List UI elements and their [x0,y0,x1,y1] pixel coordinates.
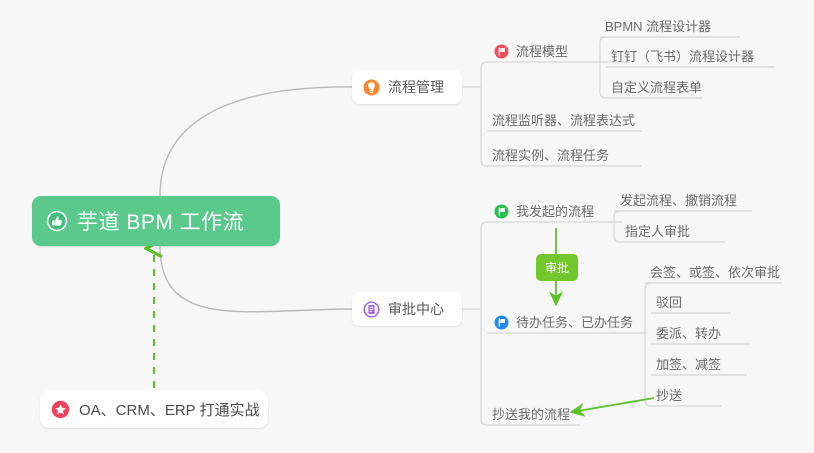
root-label: 芋道 BPM 工作流 [77,206,244,236]
leaf-label-add-remove-sign: 加签、减签 [656,357,721,372]
leaf-label-custom-process-form: 自定义流程表单 [611,80,702,95]
leaf-cc[interactable]: 抄送 [656,388,682,406]
bracket-process-mgmt [481,62,487,166]
leaf-label-cc-to-me-process: 抄送我的流程 [492,407,570,422]
leaf-label-todo-done-task: 待办任务、已办任务 [516,315,633,330]
leaf-label-delegate-transfer: 委派、转办 [656,326,721,341]
bracket-process-model [600,37,606,98]
bottom-note-integration[interactable]: OA、CRM、ERP 打通实战 [40,390,268,428]
leaf-label-reject: 驳回 [656,295,682,310]
leaf-dingtalk-feishu-designer[interactable]: 钉钉（飞书）流程设计器 [611,49,754,67]
leaf-start-cancel-process[interactable]: 发起流程、撤销流程 [620,193,737,211]
bracket-my-initiated [614,211,620,242]
leaf-label-my-initiated-process: 我发起的流程 [516,204,594,219]
bracket-todo-done [645,283,651,406]
leaf-reject[interactable]: 驳回 [656,295,682,313]
flag-icon [494,204,509,219]
leaf-label-assignee-approval: 指定人审批 [625,224,690,239]
flag-icon [494,315,509,330]
leaf-label-countersign-orsign-sequential: 会签、或签、依次审批 [650,265,780,280]
star-icon [51,400,70,419]
branch-node-process-mgmt[interactable]: 流程管理 [352,70,462,104]
leaf-cc-to-me-process[interactable]: 抄送我的流程 [492,407,570,425]
flag-icon [494,44,509,59]
leaf-label-bpmn-designer: BPMN 流程设计器 [605,19,711,34]
leaf-label-cc: 抄送 [656,388,682,403]
leaf-label-start-cancel-process: 发起流程、撤销流程 [620,193,737,208]
leaf-label-process-instance-task: 流程实例、流程任务 [492,148,609,163]
leaf-countersign-orsign-sequential[interactable]: 会签、或签、依次审批 [650,265,780,283]
root-node[interactable]: 芋道 BPM 工作流 [32,196,280,246]
annotation-tag-approve[interactable]: 审批 [536,254,578,281]
branch-label-approval-center: 审批中心 [388,299,444,319]
leaf-label-dingtalk-feishu-designer: 钉钉（飞书）流程设计器 [611,49,754,64]
leaf-label-process-model: 流程模型 [516,44,568,59]
annotation-tag-approve-label: 审批 [545,261,569,275]
leaf-todo-done-task[interactable]: 待办任务、已办任务 [494,315,633,333]
leaf-assignee-approval[interactable]: 指定人审批 [625,224,690,242]
leaf-add-remove-sign[interactable]: 加签、减签 [656,357,721,375]
bracket-approval-center [481,222,487,425]
arrow-cc-flow [572,398,654,412]
leaf-process-model[interactable]: 流程模型 [494,44,568,62]
leaf-my-initiated-process[interactable]: 我发起的流程 [494,204,594,222]
thumbs-up-icon [46,210,68,232]
lightbulb-icon [363,79,380,96]
branch-label-process-mgmt: 流程管理 [388,77,444,97]
branch-node-approval-center[interactable]: 审批中心 [352,292,462,326]
leaf-label-process-listener-expression: 流程监听器、流程表达式 [492,113,635,128]
leaf-process-listener-expression[interactable]: 流程监听器、流程表达式 [492,113,635,131]
link-root-to-process-mgmt [160,87,352,196]
clipboard-icon [363,301,380,318]
leaf-bpmn-designer[interactable]: BPMN 流程设计器 [605,19,711,37]
leaf-delegate-transfer[interactable]: 委派、转办 [656,326,721,344]
bottom-note-label: OA、CRM、ERP 打通实战 [79,399,260,420]
mindmap-canvas: 芋道 BPM 工作流 流程管理 流程模型 流程监听器、流程表达式 流程实例、流 [0,0,814,453]
leaf-custom-process-form[interactable]: 自定义流程表单 [611,80,702,98]
link-root-to-approval-center [160,246,352,312]
leaf-process-instance-task[interactable]: 流程实例、流程任务 [492,148,609,166]
